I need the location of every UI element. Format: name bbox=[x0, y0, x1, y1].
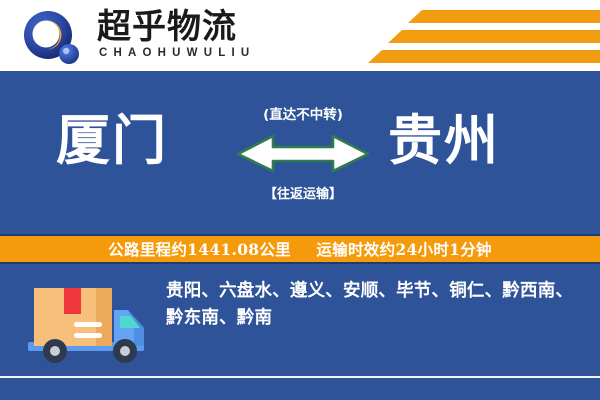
route-info-bar: 公路里程约1441.08公里 运输时效约24小时1分钟 bbox=[0, 234, 600, 264]
info-bar-content: 公路里程约1441.08公里 运输时效约24小时1分钟 bbox=[108, 238, 492, 260]
header: 超乎物流 CHAOHUWULIU bbox=[0, 0, 600, 71]
stripe-1 bbox=[408, 10, 600, 23]
route-hero: 厦门 (直达不中转) 【往返运输】 贵州 bbox=[0, 71, 600, 234]
stripe-3 bbox=[368, 50, 600, 63]
bottom-divider bbox=[0, 376, 600, 378]
distance-text: 公路里程约1441.08公里 bbox=[108, 240, 291, 259]
delivery-truck-icon bbox=[22, 280, 150, 370]
stripe-2 bbox=[388, 30, 600, 43]
covered-cities-list: 贵阳、六盘水、遵义、安顺、毕节、铜仁、黔西南、黔东南、黔南 bbox=[166, 278, 582, 332]
brand-pinyin: CHAOHUWULIU bbox=[99, 47, 255, 59]
circle-q-logo-icon bbox=[22, 10, 84, 66]
destination-city: 贵州 bbox=[388, 109, 500, 171]
route-note-direct: (直达不中转) bbox=[238, 103, 368, 123]
route-indicator: (直达不中转) 【往返运输】 bbox=[238, 103, 368, 203]
bidirectional-arrow-icon bbox=[233, 129, 373, 175]
coverage-section: 贵阳、六盘水、遵义、安顺、毕节、铜仁、黔西南、黔东南、黔南 bbox=[0, 264, 600, 400]
logistics-route-banner: 超乎物流 CHAOHUWULIU 厦门 (直达不中转) 【往返运输】 贵州 公路… bbox=[0, 0, 600, 400]
duration-text: 运输时效约24小时1分钟 bbox=[316, 240, 491, 259]
origin-city: 厦门 bbox=[56, 109, 168, 171]
decorative-stripes bbox=[330, 6, 600, 66]
route-note-roundtrip: 【往返运输】 bbox=[238, 183, 368, 202]
brand-name: 超乎物流 bbox=[97, 8, 237, 46]
